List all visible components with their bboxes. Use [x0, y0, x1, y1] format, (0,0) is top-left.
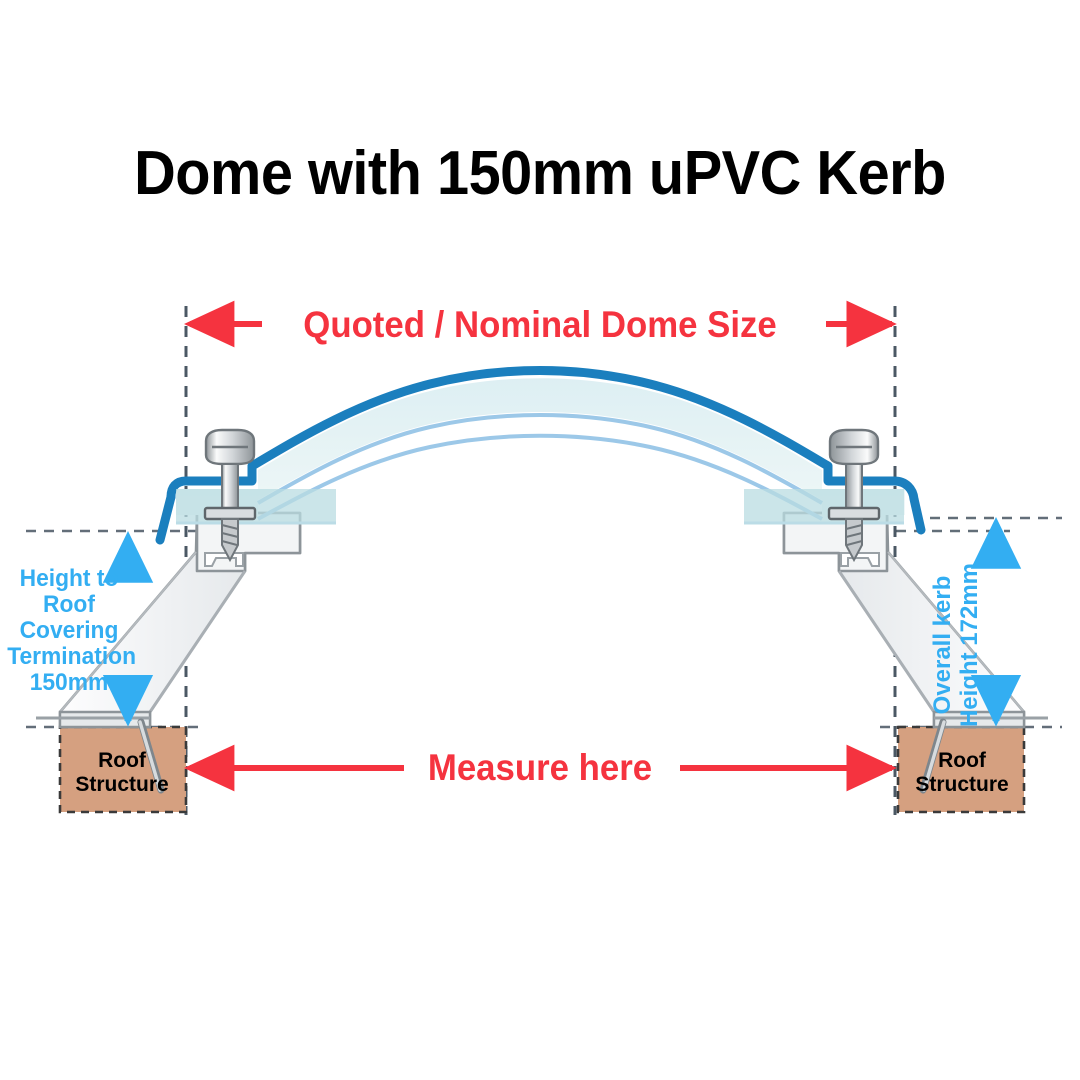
roof-structure-left-line-2: Structure	[58, 773, 186, 797]
overall-kerb-height-label: Overall kerb Height 172mm	[930, 540, 990, 750]
roof-structure-left-line-1: Roof	[58, 749, 186, 773]
roof-structure-label-right: Roof Structure	[898, 749, 1026, 797]
dome-size-dimension-label: Quoted / Nominal Dome Size	[32, 305, 1047, 345]
height-label-line-2: Roof	[7, 592, 131, 618]
roof-structure-right-line-2: Structure	[898, 773, 1026, 797]
kerb-label-line-2: Height 172mm	[957, 540, 984, 750]
roof-structure-right-line-1: Roof	[898, 749, 1026, 773]
technical-drawing	[0, 0, 1080, 1080]
height-to-roof-covering-label: Height to Roof Covering Termination 150m…	[7, 566, 131, 696]
roof-structure-label-left: Roof Structure	[58, 749, 186, 797]
height-label-line-5: 150mm	[7, 670, 131, 696]
dome-glazing	[160, 371, 921, 541]
kerb-label-line-1: Overall kerb	[930, 540, 957, 750]
height-label-line-1: Height to	[7, 566, 131, 592]
diagram-canvas: Dome with 150mm uPVC Kerb	[0, 0, 1080, 1080]
height-label-line-4: Termination	[7, 644, 131, 670]
height-label-line-3: Covering	[7, 618, 131, 644]
